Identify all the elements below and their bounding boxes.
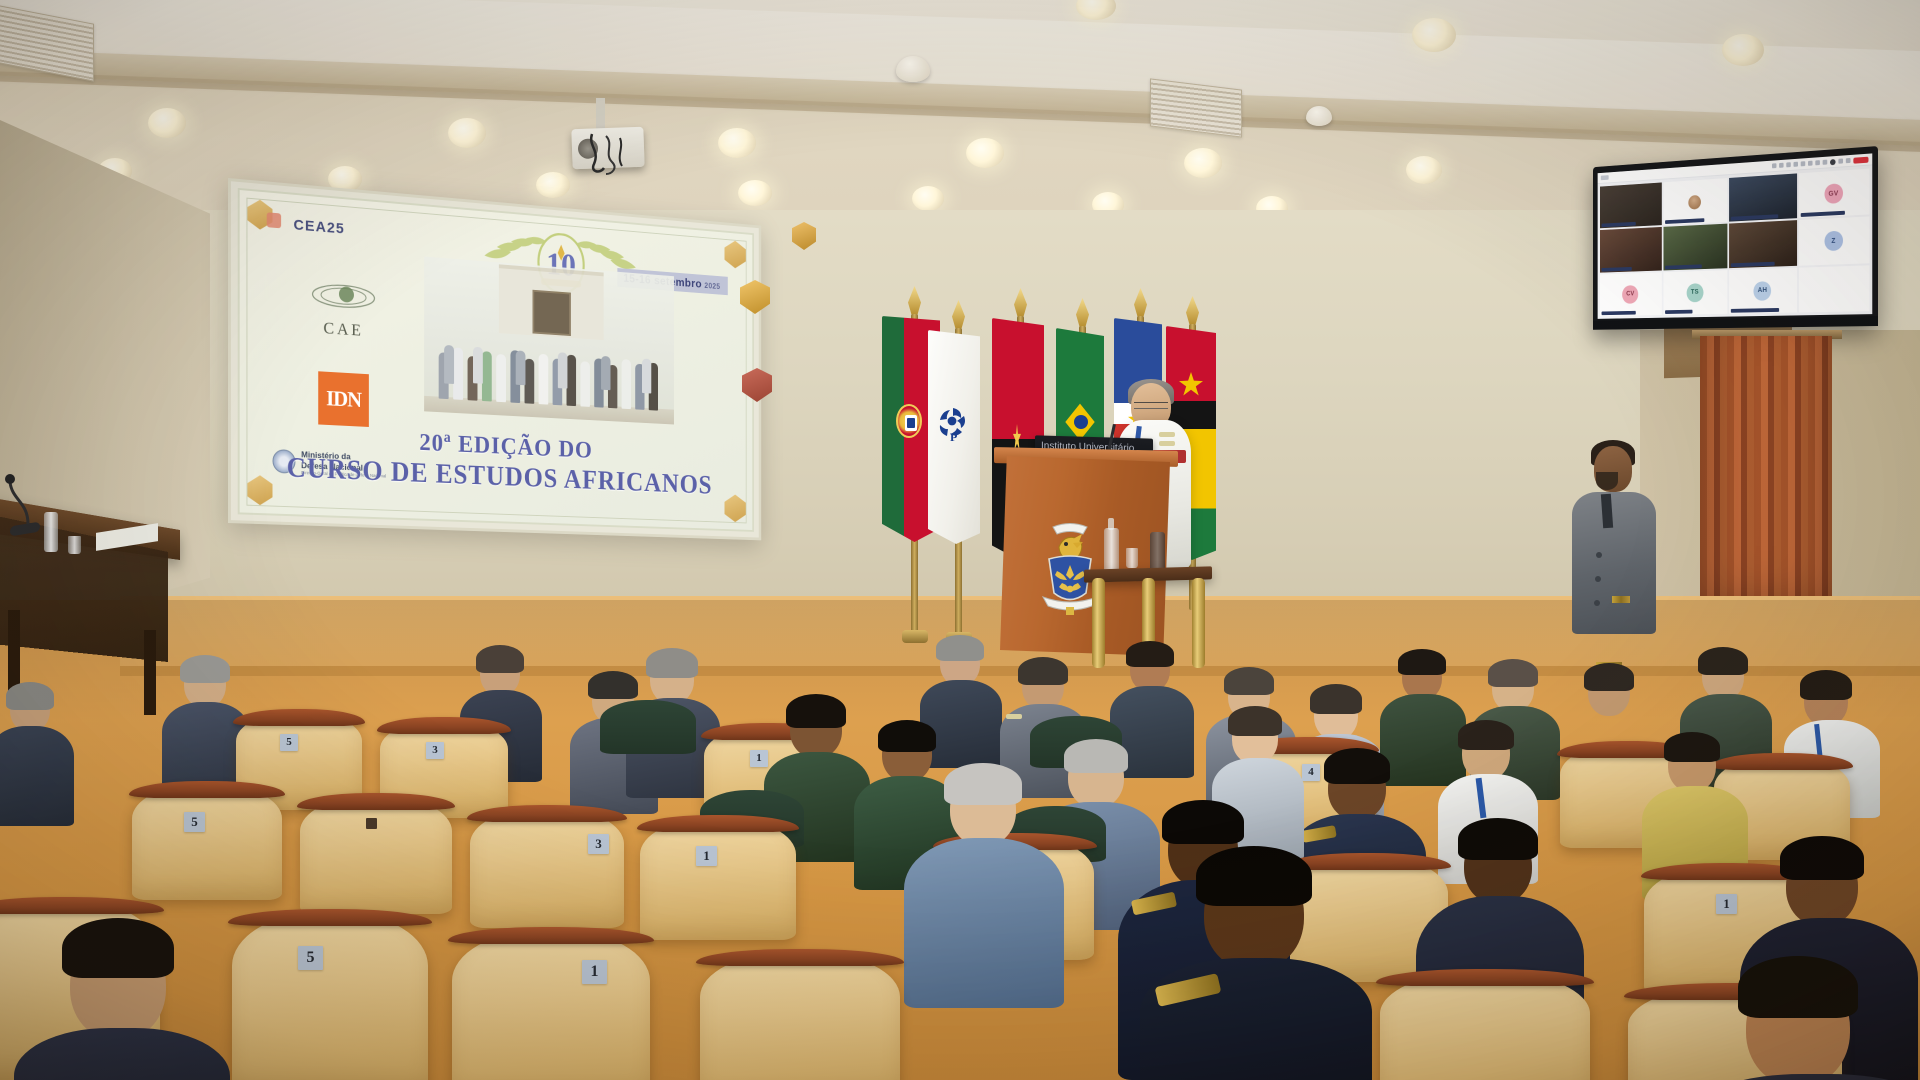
person-hair bbox=[646, 648, 698, 678]
ceiling-downlight bbox=[1722, 34, 1764, 66]
slide-group-photo bbox=[424, 256, 674, 424]
person-hair bbox=[1162, 800, 1244, 844]
person-hair bbox=[1800, 670, 1852, 700]
person-hair bbox=[1458, 818, 1538, 860]
photo-person bbox=[558, 352, 568, 388]
vc-mic-icon[interactable] bbox=[1772, 163, 1776, 168]
water-bottle-neck bbox=[1108, 518, 1114, 530]
slide-date-year: 2025 bbox=[704, 281, 720, 291]
seat-number-plate: 5 bbox=[298, 946, 323, 970]
desk-glass bbox=[68, 536, 81, 554]
vc-name-label bbox=[1731, 308, 1779, 313]
seat-number-plate: 1 bbox=[696, 846, 717, 866]
vc-name-label bbox=[1602, 311, 1636, 315]
ceiling-downlight bbox=[966, 138, 1004, 168]
presentation-slide: CEA25 15-16 setembro2025 10 bbox=[238, 188, 754, 532]
person-hair bbox=[1310, 684, 1362, 714]
auditorium-seat[interactable]: 5 bbox=[232, 912, 428, 1080]
cae-label: CAE bbox=[272, 315, 413, 344]
seat-cushion bbox=[600, 700, 696, 754]
table-leg bbox=[1192, 578, 1205, 668]
vc-avatar-initials: GV bbox=[1824, 183, 1843, 204]
auditorium-seat[interactable]: 3 bbox=[470, 808, 624, 928]
vc-tile-hall[interactable] bbox=[1600, 227, 1661, 272]
auditorium-seat[interactable] bbox=[700, 952, 900, 1080]
seat-backrest-rail bbox=[448, 927, 654, 944]
slide-bullet-marker bbox=[267, 212, 281, 228]
videoconference-tv[interactable]: GV Z CV bbox=[1593, 146, 1878, 330]
vc-participant-grid[interactable]: GV Z CV bbox=[1598, 165, 1873, 318]
speaker-rank-epaulette bbox=[1159, 432, 1175, 437]
ceiling-downlight bbox=[448, 118, 486, 148]
projector-cables bbox=[586, 132, 632, 176]
person-hair bbox=[62, 918, 174, 978]
vc-participants-icon[interactable] bbox=[1793, 162, 1798, 167]
photo-person bbox=[453, 347, 463, 400]
vc-reactions-icon[interactable] bbox=[1808, 161, 1813, 166]
vc-layout-icon[interactable] bbox=[1846, 158, 1851, 163]
photo-person bbox=[473, 347, 483, 384]
vc-tile-ah[interactable]: AH bbox=[1729, 267, 1797, 313]
person-hair bbox=[786, 694, 846, 728]
idn-label: IDN bbox=[318, 371, 369, 427]
person-hair bbox=[1398, 649, 1446, 675]
ceiling-downlight bbox=[718, 128, 756, 158]
auditorium-seat[interactable]: 1 bbox=[452, 930, 650, 1080]
person-hair bbox=[1458, 720, 1514, 750]
vc-view-icon[interactable] bbox=[1838, 158, 1843, 163]
seat-number-plate: 5 bbox=[184, 812, 205, 832]
vc-avatar-initials: AH bbox=[1754, 281, 1772, 301]
person-hair bbox=[1488, 659, 1538, 687]
person-hair bbox=[180, 655, 230, 683]
auditorium-seat[interactable]: 5 bbox=[132, 784, 282, 900]
speaker-rank-epaulette bbox=[1159, 441, 1175, 446]
cplp-emblem-icon: P bbox=[936, 402, 970, 442]
window-curtain bbox=[1700, 336, 1832, 636]
seat-number-plate: 1 bbox=[582, 960, 607, 984]
water-bottle bbox=[1104, 528, 1119, 574]
photo-person bbox=[642, 359, 651, 394]
person-hair bbox=[1664, 732, 1720, 762]
vc-apps-icon[interactable] bbox=[1815, 160, 1820, 165]
auditorium-seat[interactable] bbox=[300, 796, 452, 914]
vc-tile-z[interactable]: Z bbox=[1798, 217, 1869, 266]
idn-logo: IDN bbox=[272, 369, 413, 430]
person-hair bbox=[588, 671, 638, 699]
person-hair bbox=[1224, 667, 1274, 695]
projector-mount bbox=[596, 98, 605, 132]
person-hair bbox=[1324, 748, 1390, 784]
photo-person bbox=[622, 359, 631, 409]
officer-head bbox=[1594, 446, 1632, 492]
officer-uniform bbox=[1572, 492, 1656, 634]
desk-microphone bbox=[2, 470, 52, 530]
tv-screen[interactable]: GV Z CV bbox=[1598, 153, 1873, 318]
person-hair bbox=[936, 635, 984, 661]
seat-backrest-rail bbox=[1711, 753, 1852, 770]
ceiling-downlight bbox=[1406, 156, 1442, 184]
person-torso bbox=[1380, 694, 1466, 786]
person-torso bbox=[0, 726, 74, 826]
officer-button bbox=[1594, 600, 1600, 606]
vc-tile-gv[interactable]: GV bbox=[1798, 169, 1869, 219]
water-bottle bbox=[1150, 532, 1165, 572]
vc-tile-cv[interactable]: CV bbox=[1600, 272, 1661, 316]
vc-record-dot-icon[interactable] bbox=[1830, 159, 1836, 165]
auditorium-scene: CEA25 15-16 setembro2025 10 bbox=[0, 0, 1920, 1080]
vc-participant-face bbox=[1689, 195, 1702, 210]
officer-beard bbox=[1596, 472, 1618, 490]
cae-leaf-icon bbox=[309, 279, 378, 317]
person-epaulette bbox=[1006, 714, 1022, 719]
person-torso bbox=[920, 680, 1002, 768]
officer-medal-ribbon bbox=[1612, 596, 1630, 603]
seat-backrest-rail bbox=[377, 717, 510, 734]
vc-name-label bbox=[1602, 267, 1632, 272]
person-hair bbox=[1196, 846, 1312, 906]
angola-emblem bbox=[1004, 424, 1030, 450]
vc-avatar-initials: Z bbox=[1824, 231, 1843, 251]
person-hair bbox=[1126, 641, 1174, 667]
ceiling-downlight bbox=[1184, 148, 1222, 178]
drinking-glass bbox=[1126, 548, 1138, 568]
seat-number-plate: 1 bbox=[1716, 894, 1737, 914]
brazil-globe bbox=[1074, 415, 1088, 429]
ceiling-downlight bbox=[1412, 18, 1456, 52]
photo-person bbox=[516, 350, 526, 385]
speaker-glasses-icon bbox=[1134, 402, 1168, 409]
seat-backrest-rail bbox=[228, 909, 432, 926]
side-desk-leg bbox=[144, 630, 156, 715]
vc-avatar-initials: CV bbox=[1622, 285, 1638, 304]
ceiling-downlight bbox=[536, 172, 570, 198]
vc-leave-button[interactable] bbox=[1853, 156, 1868, 163]
person-hair bbox=[1018, 657, 1068, 685]
vc-name-label bbox=[1665, 264, 1702, 269]
seat-number-plate: 3 bbox=[588, 834, 609, 854]
seat-backrest-rail bbox=[233, 709, 364, 726]
person-hair bbox=[476, 645, 524, 673]
person-hair bbox=[6, 682, 54, 710]
flagpole-base bbox=[902, 630, 928, 643]
vc-tile-empty[interactable] bbox=[1798, 265, 1869, 312]
seat-number-plate: 1 bbox=[750, 750, 768, 767]
ceiling-downlight bbox=[148, 108, 186, 138]
vc-name-label bbox=[1731, 215, 1778, 221]
vc-tile-portrait[interactable] bbox=[1663, 178, 1727, 225]
person-hair bbox=[1780, 836, 1864, 880]
seat-number-plate: 4 bbox=[1302, 764, 1320, 781]
photo-person bbox=[444, 345, 454, 384]
smoke-detector bbox=[1306, 106, 1332, 126]
ceiling-downlight bbox=[738, 180, 772, 206]
person-hair bbox=[1228, 706, 1282, 736]
person-hair bbox=[878, 720, 936, 752]
vc-avatar-initials: TS bbox=[1686, 283, 1703, 302]
officer-button bbox=[1596, 552, 1602, 558]
svg-text:P: P bbox=[950, 430, 957, 442]
vc-tile-room-2[interactable] bbox=[1729, 173, 1797, 222]
cplp-flag: P bbox=[928, 330, 980, 544]
vc-tile-room-3[interactable] bbox=[1729, 220, 1797, 267]
standing-officer bbox=[1572, 438, 1656, 634]
seat-number-plate: 5 bbox=[280, 734, 298, 751]
vc-tile-room-1[interactable] bbox=[1600, 182, 1661, 228]
officer-button bbox=[1595, 576, 1601, 582]
person-hair bbox=[1738, 956, 1858, 1018]
photo-doorway bbox=[532, 290, 570, 336]
mozambique-star bbox=[1179, 372, 1203, 396]
auditorium-seat[interactable] bbox=[1380, 972, 1590, 1080]
photo-person bbox=[482, 351, 492, 401]
vc-name-label bbox=[1665, 310, 1693, 314]
person-hair bbox=[1064, 739, 1128, 773]
photo-person bbox=[539, 354, 549, 405]
portugal-coat-of-arms bbox=[896, 404, 922, 438]
seat-power-socket[interactable] bbox=[366, 818, 377, 829]
table-leg bbox=[1092, 578, 1105, 668]
photo-person bbox=[496, 354, 506, 402]
person-torso bbox=[904, 838, 1064, 1008]
photo-person bbox=[567, 355, 577, 407]
vc-tile-ts[interactable]: TS bbox=[1663, 270, 1727, 315]
vc-camera-icon[interactable] bbox=[1779, 163, 1783, 168]
person-hair bbox=[1698, 647, 1748, 675]
vc-name-label bbox=[1665, 219, 1705, 225]
vc-menu-icon[interactable] bbox=[1601, 175, 1609, 180]
vc-more-icon[interactable] bbox=[1823, 160, 1828, 165]
vc-name-label bbox=[1800, 211, 1845, 217]
person-torso bbox=[1140, 958, 1372, 1080]
person-hair bbox=[944, 763, 1022, 805]
vc-name-label bbox=[1731, 261, 1775, 266]
photo-person bbox=[525, 359, 535, 404]
vc-chat-icon[interactable] bbox=[1801, 161, 1806, 166]
vc-name-label bbox=[1602, 222, 1636, 227]
smoke-detector bbox=[896, 56, 930, 82]
cae-logo: CAE bbox=[272, 276, 413, 344]
seat-number-plate: 3 bbox=[426, 742, 444, 759]
side-desk-leg bbox=[8, 610, 20, 695]
photo-person bbox=[601, 356, 610, 390]
photo-person bbox=[580, 361, 589, 407]
officer-tie bbox=[1601, 494, 1613, 529]
vc-share-icon[interactable] bbox=[1786, 162, 1790, 167]
projection-screen: CEA25 15-16 setembro2025 10 bbox=[228, 178, 761, 540]
person-hair bbox=[1584, 663, 1634, 691]
ceiling-downlight bbox=[912, 186, 944, 211]
auditorium-seat[interactable]: 1 bbox=[640, 818, 796, 940]
vc-tile-officers[interactable] bbox=[1663, 224, 1727, 270]
